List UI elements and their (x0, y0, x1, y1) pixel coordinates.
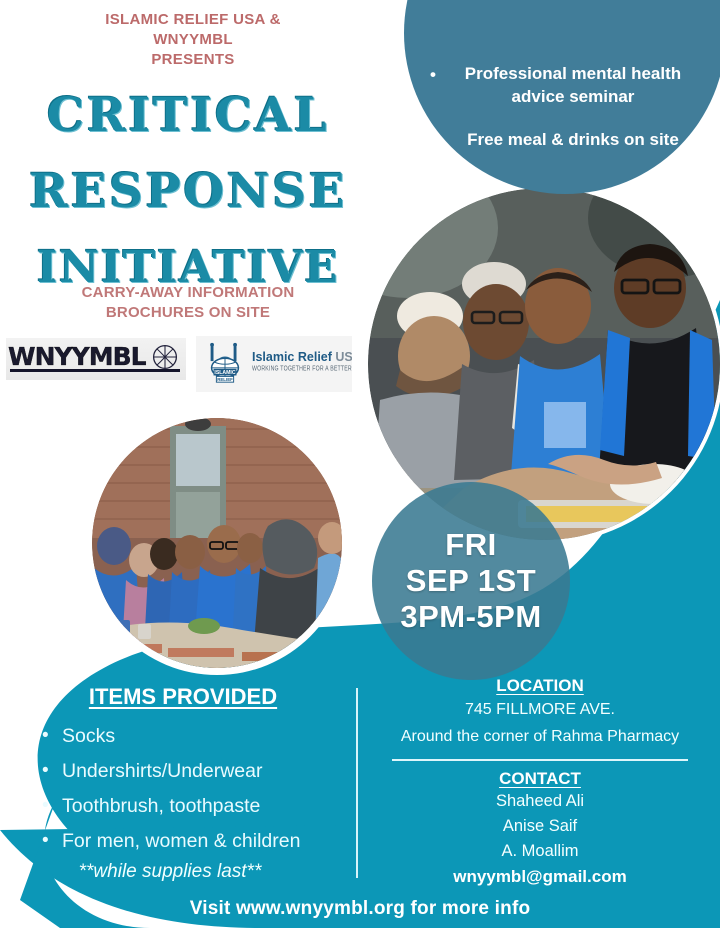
bullet-dot-icon: • (430, 62, 436, 108)
list-item: For men, women & children (42, 824, 348, 859)
volunteers-at-table-photo (92, 418, 342, 668)
subtitle-line-2: BROCHURES ON SITE (28, 303, 348, 323)
flyer-canvas: ISLAMIC RELIEF USA & WNYYMBL PRESENTS CR… (0, 0, 720, 928)
section-rule (392, 759, 688, 761)
bullet-item: • Free meal & drinks on site (430, 128, 700, 152)
contact-heading: CONTACT (368, 769, 712, 789)
islamic-relief-name-main: Islamic Relief (252, 350, 332, 364)
islamic-relief-tagline: WORKING TOGETHER FOR A BETTER WORLD. (252, 365, 352, 373)
volunteers-serving-food-photo (368, 188, 720, 540)
list-item: Undershirts/Underwear (42, 754, 348, 789)
page-title: CRITICAL RESPONSE INITIATIVE (10, 78, 366, 306)
contact-name: A. Moallim (368, 839, 712, 864)
presents-line-3: PRESENTS (38, 50, 348, 70)
contact-email[interactable]: wnyymbl@gmail.com (368, 864, 712, 890)
column-divider (356, 688, 358, 878)
bullets-circle: • Professional mental health advice semi… (404, 0, 720, 194)
location-heading: LOCATION (368, 676, 712, 696)
date-time: 3PM-5PM (400, 599, 541, 635)
date-time-circle: FRI SEP 1ST 3PM-5PM (372, 482, 570, 680)
subtitle-line-1: CARRY-AWAY INFORMATION (28, 283, 348, 303)
footer-website-text[interactable]: Visit www.wnyymbl.org for more info (190, 898, 531, 919)
svg-text:RELIEF: RELIEF (217, 377, 233, 382)
presents-header: ISLAMIC RELIEF USA & WNYYMBL PRESENTS (38, 10, 348, 70)
wnyymbl-logo: WNYYMBL (6, 338, 186, 380)
list-item: Socks (42, 719, 348, 754)
mosque-globe-icon: ISLAMIC RELIEF (202, 340, 248, 386)
supplies-note: **while supplies last** (18, 861, 348, 883)
presents-line-2: WNYYMBL (38, 30, 348, 50)
contact-name: Anise Saif (368, 814, 712, 839)
bullet-text: Professional mental health advice semina… (446, 62, 700, 108)
bullet-text: Free meal & drinks on site (446, 128, 700, 152)
svg-text:ISLAMIC: ISLAMIC (214, 370, 235, 376)
bullet-item: • Professional mental health advice semi… (430, 62, 700, 108)
items-provided-heading: ITEMS PROVIDED (18, 684, 348, 710)
islamic-relief-name-usa: USA (335, 350, 352, 364)
presents-line-1: ISLAMIC RELIEF USA & (38, 10, 348, 30)
basketball-icon (152, 344, 178, 370)
contact-name: Shaheed Ali (368, 789, 712, 814)
title-line-critical: CRITICAL (10, 78, 366, 154)
location-address: 745 FILLMORE AVE. (368, 696, 712, 723)
items-provided-section: ITEMS PROVIDED Socks Undershirts/Underwe… (18, 684, 348, 883)
footer-bar: Visit www.wnyymbl.org for more info (0, 898, 720, 920)
islamic-relief-logo: ISLAMIC RELIEF Islamic Relief USA WORKIN… (196, 336, 352, 392)
date-day: FRI (400, 527, 541, 563)
items-provided-list: Socks Undershirts/Underwear Toothbrush, … (18, 719, 348, 859)
bullet-dot-icon: • (430, 128, 436, 152)
wnyymbl-logo-text: WNYYMBL (8, 342, 146, 371)
location-cross-street: Around the corner of Rahma Pharmacy (368, 723, 712, 750)
islamic-relief-logo-name: Islamic Relief USA (252, 350, 352, 364)
location-contact-section: LOCATION 745 FILLMORE AVE. Around the co… (368, 676, 712, 890)
list-item: Toothbrush, toothpaste (42, 789, 348, 824)
date-date: SEP 1ST (400, 563, 541, 599)
subtitle-brochures: CARRY-AWAY INFORMATION BROCHURES ON SITE (28, 283, 348, 323)
title-line-response: RESPONSE (10, 154, 366, 230)
